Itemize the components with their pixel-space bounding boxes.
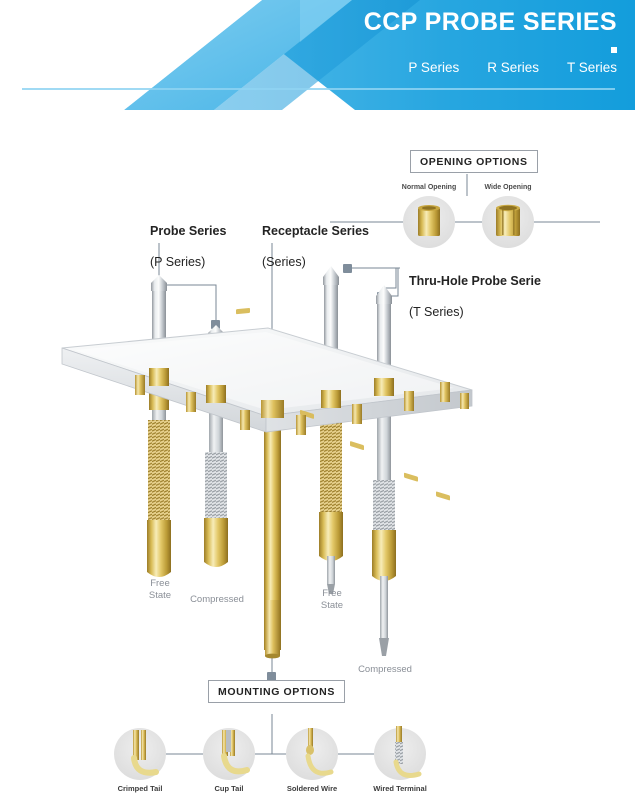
callout-thru-hole-sub: (T Series)	[409, 305, 464, 319]
callout-probe-series: Probe Series (P Series)	[150, 208, 226, 271]
callout-thru-hole-probe: Thru-Hole Probe Serie (T Series)	[409, 258, 541, 321]
mounting-options-heading: MOUNTING OPTIONS	[208, 680, 345, 703]
callout-receptacle-series-title: Receptacle Series	[262, 224, 369, 238]
opening-option-label-normal: Normal Opening	[399, 184, 459, 191]
state-label-p-free: Free State	[139, 578, 181, 603]
mounting-option-label-wired-terminal: Wired Terminal	[366, 784, 434, 793]
mounting-connector-lines	[166, 714, 374, 754]
probe-p-free-state	[147, 275, 171, 577]
mounting-option-label-crimped-tail: Crimped Tail	[110, 784, 170, 793]
callout-probe-series-sub: (P Series)	[150, 255, 205, 269]
mounting-option-label-cup-tail: Cup Tail	[199, 784, 259, 793]
callout-probe-series-title: Probe Series	[150, 224, 226, 238]
callout-receptacle-series: Receptacle Series (Series)	[262, 208, 369, 271]
callout-thru-hole-title: Thru-Hole Probe Serie	[409, 274, 541, 288]
state-label-p-compressed: Compressed	[184, 594, 250, 606]
callout-receptacle-series-sub: (Series)	[262, 255, 306, 269]
opening-option-wide	[482, 196, 534, 248]
probe-t-free-state	[319, 266, 343, 594]
opening-option-label-wide: Wide Opening	[479, 184, 537, 191]
mounting-option-cup-tail	[203, 728, 255, 780]
mounting-option-crimped-tail	[114, 728, 166, 780]
state-label-t-compressed: Compressed	[352, 664, 418, 676]
mounting-option-label-soldered-wire: Soldered Wire	[278, 784, 346, 793]
probe-t-compressed	[372, 285, 396, 656]
state-label-t-free: Free State	[311, 588, 353, 613]
mounting-option-soldered-wire	[286, 728, 338, 780]
opening-option-normal	[403, 196, 455, 248]
opening-options-heading: OPENING OPTIONS	[410, 150, 538, 173]
mounting-option-wired-terminal	[374, 726, 426, 780]
